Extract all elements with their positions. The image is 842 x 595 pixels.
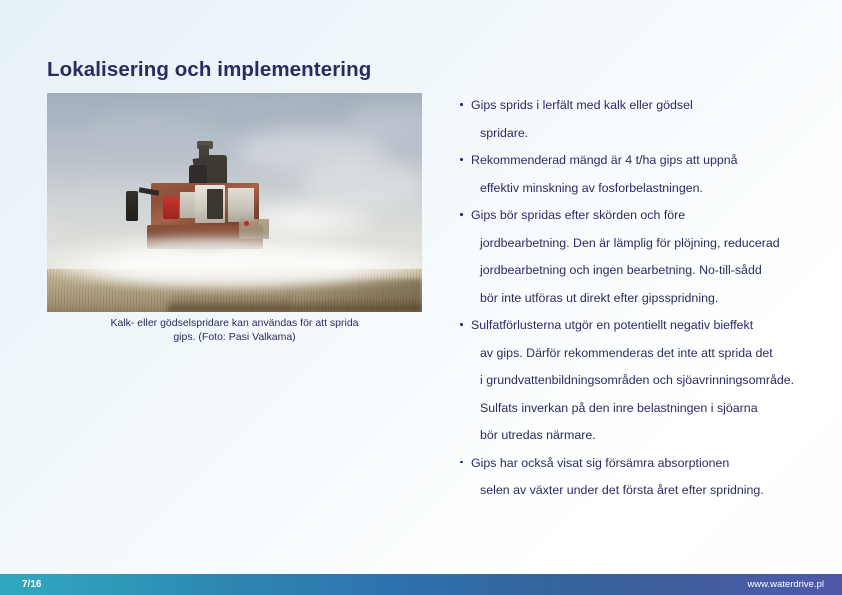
bullet-line: Gips sprids i lerfält med kalk eller göd… xyxy=(471,92,841,120)
footer-url[interactable]: www.waterdrive.pl xyxy=(747,574,824,595)
photo-machine-panel xyxy=(228,188,254,222)
photo-machine-hopper xyxy=(207,189,223,219)
bullet-line: Gips har också visat sig försämra absorp… xyxy=(471,450,841,478)
photo-machine-mirror xyxy=(126,191,138,221)
bullet-line: jordbearbetning och ingen bearbetning. N… xyxy=(471,257,841,285)
bullet-line: effektiv minskning av fosforbelastningen… xyxy=(471,175,841,203)
bullet-line: Rekommenderad mängd är 4 t/ha gips att u… xyxy=(471,147,841,175)
list-item: Gips har också visat sig försämra absorp… xyxy=(459,450,841,505)
footer-bar: 7/16 www.waterdrive.pl xyxy=(0,574,842,595)
bullet-list: Gips sprids i lerfält med kalk eller göd… xyxy=(459,92,841,505)
photo-machine-red-light xyxy=(163,197,179,219)
photo-foreground-shadow xyxy=(167,299,422,312)
bullet-line: i grundvattenbildningsområden och sjöavr… xyxy=(471,367,841,395)
photo-caption-line-2: gips. (Foto: Pasi Valkama) xyxy=(47,331,422,345)
bullet-line: Sulfatförlusterna utgör en potentiellt n… xyxy=(471,312,841,340)
bullet-line: selen av växter under det första året ef… xyxy=(471,477,841,505)
bullet-line: av gips. Därför rekommenderas det inte a… xyxy=(471,340,841,368)
bullet-dot-icon xyxy=(460,103,463,106)
bullet-dot-icon xyxy=(460,323,463,326)
bullet-dot-icon xyxy=(460,461,463,464)
page-number: 7/16 xyxy=(22,574,41,595)
photo-dust-plume xyxy=(77,261,397,291)
list-item: Gips bör spridas efter skörden och före … xyxy=(459,202,841,312)
list-item: Sulfatförlusterna utgör en potentiellt n… xyxy=(459,312,841,450)
list-item: Gips sprids i lerfält med kalk eller göd… xyxy=(459,92,841,147)
photo-cloud xyxy=(167,99,357,127)
bullet-line: jordbearbetning. Den är lämplig för plöj… xyxy=(471,230,841,258)
photo-spreader-in-field xyxy=(47,93,422,312)
slide-canvas: Lokalisering och implementering xyxy=(0,0,842,595)
page-title: Lokalisering och implementering xyxy=(47,58,371,82)
bullet-dot-icon xyxy=(460,213,463,216)
photo-caption: Kalk- eller gödselspridare kan användas … xyxy=(47,317,422,344)
bullet-dot-icon xyxy=(460,158,463,161)
bullet-line: bör utredas närmare. xyxy=(471,422,841,450)
photo-caption-line-1: Kalk- eller gödselspridare kan användas … xyxy=(47,317,422,331)
bullet-line: Sulfats inverkan på den inre belastninge… xyxy=(471,395,841,423)
bullet-line: Gips bör spridas efter skörden och före xyxy=(471,202,841,230)
list-item: Rekommenderad mängd är 4 t/ha gips att u… xyxy=(459,147,841,202)
bullet-line: spridare. xyxy=(471,120,841,148)
bullet-line: bör inte utföras ut direkt efter gipsspr… xyxy=(471,285,841,313)
